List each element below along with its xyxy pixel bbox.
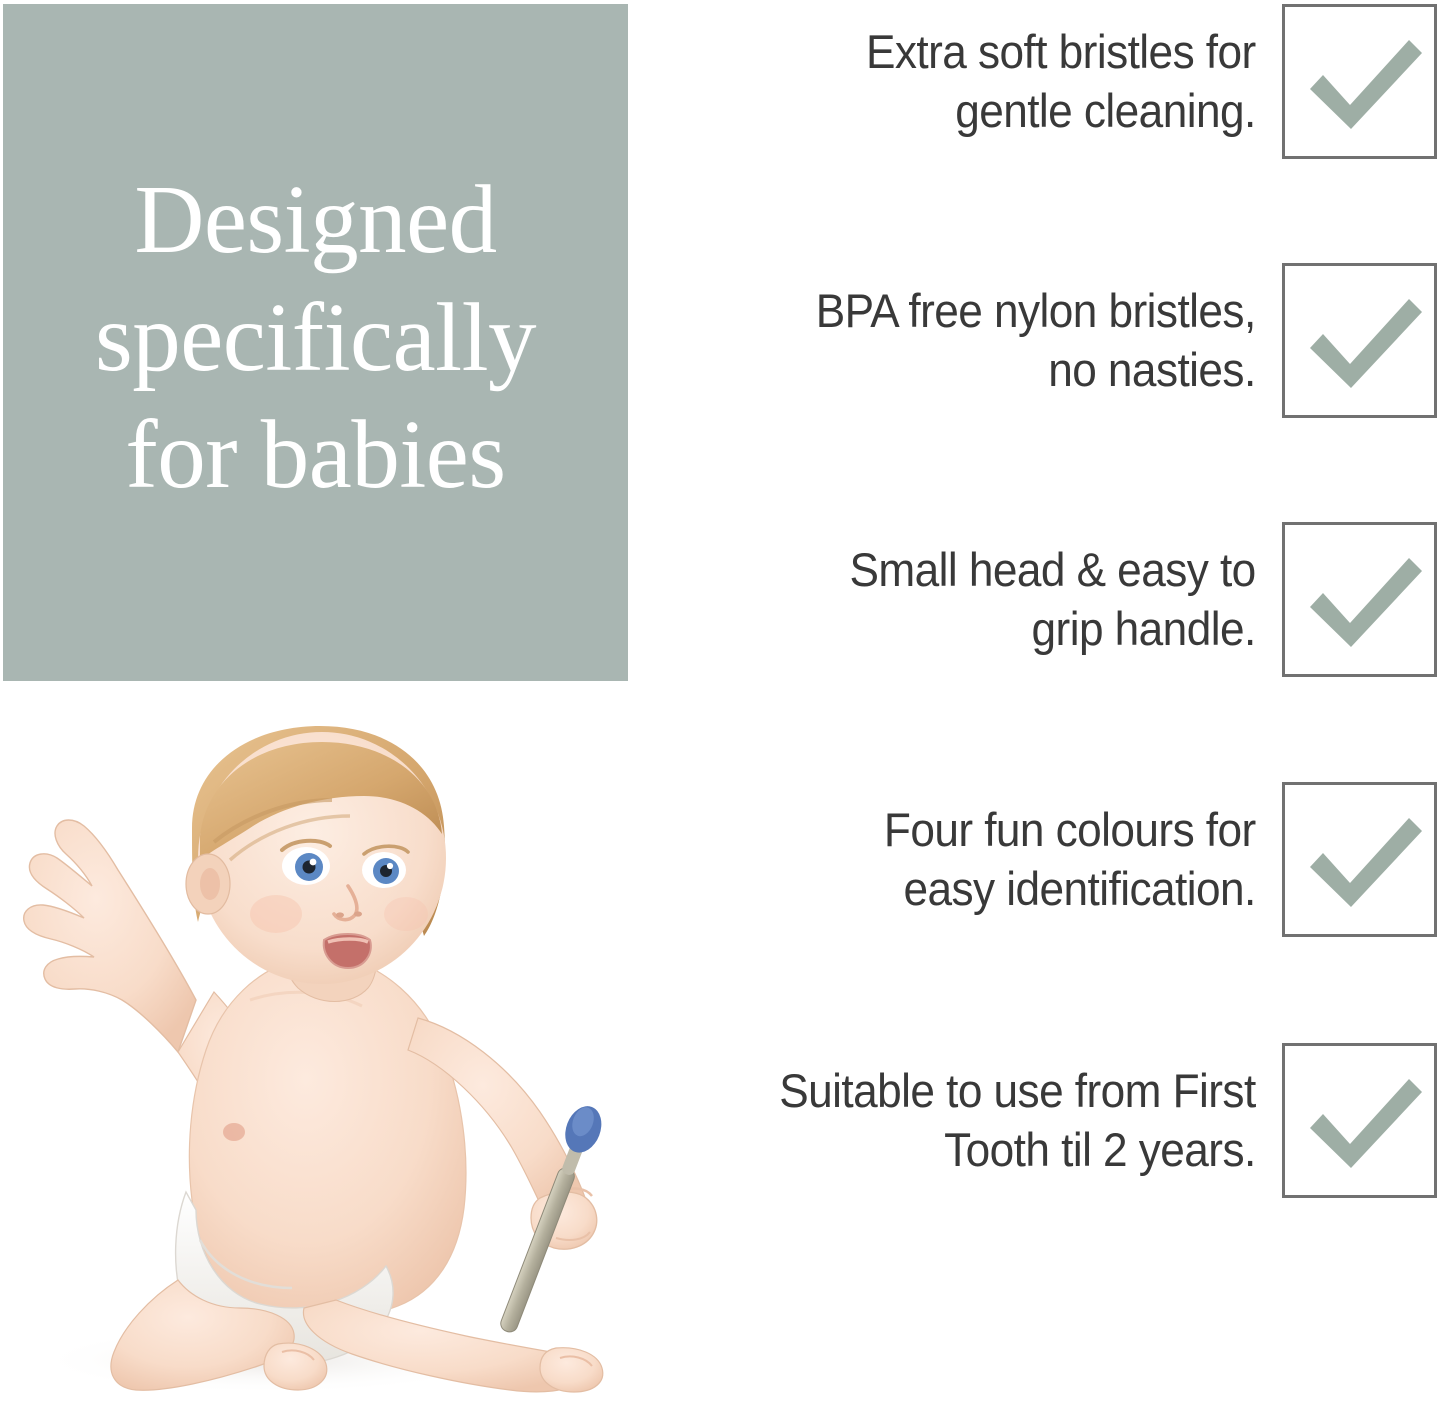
feature-label-suitable-first-tooth: Suitable to use from First Tooth til 2 y…: [732, 1061, 1282, 1179]
check-icon: [1283, 783, 1438, 938]
checkbox-four-fun-colours[interactable]: [1282, 782, 1437, 937]
feature-label-line-2: grip handle.: [732, 599, 1256, 658]
feature-label-line-1: Four fun colours for: [732, 800, 1256, 859]
page-title: Designed specifically for babies: [3, 161, 628, 523]
feature-label-line-2: easy identification.: [732, 859, 1256, 918]
check-icon: [1283, 1044, 1438, 1199]
feature-label-line-2: gentle cleaning.: [732, 81, 1256, 140]
left-column: Designed specifically for babies: [0, 0, 632, 1416]
checkbox-small-head-easy-grip[interactable]: [1282, 522, 1437, 677]
infographic-root: Designed specifically for babies: [0, 0, 1445, 1416]
hero-panel: Designed specifically for babies: [3, 4, 628, 681]
feature-label-line-1: Extra soft bristles for: [732, 22, 1256, 81]
checkbox-extra-soft-bristles[interactable]: [1282, 4, 1437, 159]
feature-label-bpa-free-nylon: BPA free nylon bristles, no nasties.: [732, 281, 1282, 399]
feature-row: Extra soft bristles for gentle cleaning.: [640, 3, 1445, 159]
hero-heading-line-2: specifically: [25, 279, 606, 396]
feature-label-line-2: no nasties.: [732, 340, 1256, 399]
check-icon: [1283, 264, 1438, 419]
checkbox-bpa-free-nylon[interactable]: [1282, 263, 1437, 418]
feature-label-line-1: Suitable to use from First: [732, 1061, 1256, 1120]
feature-row: BPA free nylon bristles, no nasties.: [640, 262, 1445, 418]
hero-heading-line-3: for babies: [25, 396, 606, 513]
feature-label-line-1: Small head & easy to: [732, 540, 1256, 599]
feature-label-line-1: BPA free nylon bristles,: [732, 281, 1256, 340]
check-icon: [1283, 523, 1438, 678]
feature-label-line-2: Tooth til 2 years.: [732, 1120, 1256, 1179]
feature-label-small-head-easy-grip: Small head & easy to grip handle.: [732, 540, 1282, 658]
hero-heading-line-1: Designed: [25, 161, 606, 278]
checkbox-suitable-first-tooth[interactable]: [1282, 1043, 1437, 1198]
baby-photo: [0, 700, 632, 1416]
check-icon: [1283, 5, 1438, 160]
feature-list: Extra soft bristles for gentle cleaning.…: [640, 0, 1445, 1416]
feature-row: Four fun colours for easy identification…: [640, 781, 1445, 937]
feature-row: Small head & easy to grip handle.: [640, 521, 1445, 677]
feature-label-extra-soft-bristles: Extra soft bristles for gentle cleaning.: [732, 22, 1282, 140]
feature-row: Suitable to use from First Tooth til 2 y…: [640, 1042, 1445, 1198]
feature-label-four-fun-colours: Four fun colours for easy identification…: [732, 800, 1282, 918]
